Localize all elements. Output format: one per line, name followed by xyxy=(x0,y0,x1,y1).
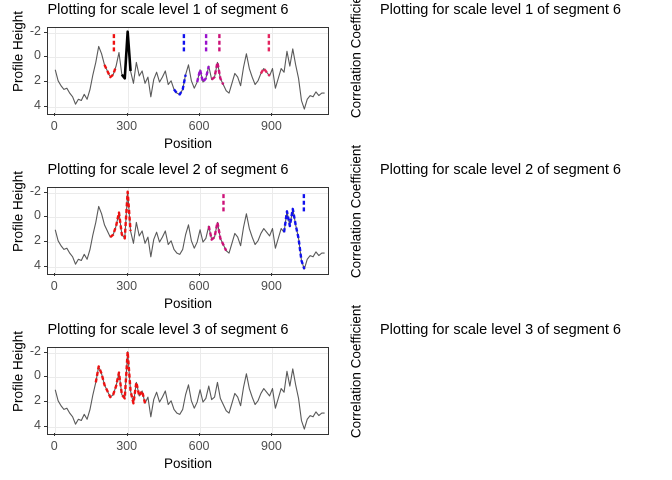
x-axis-label: Position xyxy=(47,136,329,151)
y-tick-label: -2 xyxy=(7,24,41,38)
x-tick-mark xyxy=(127,273,128,276)
x-tick-mark xyxy=(271,113,272,116)
y-tick-label: 2 xyxy=(7,233,41,247)
y-tick-mark xyxy=(44,401,47,402)
x-tick-mark xyxy=(199,113,200,116)
x-tick-label: 0 xyxy=(24,279,84,293)
y-tick-label: 4 xyxy=(7,258,41,272)
y-tick-label: -2 xyxy=(7,344,41,358)
x-tick-label: 300 xyxy=(97,119,157,133)
x-tick-mark xyxy=(127,113,128,116)
panel-title: Plotting for scale level 1 of segment 6 xyxy=(380,0,672,20)
y-axis-label: Correlation Coefficient xyxy=(280,364,432,384)
x-tick-label: 600 xyxy=(169,279,229,293)
panel-scale1-correlation: Plotting for scale level 1 of segment 6 … xyxy=(336,0,672,160)
y-tick-label: 2 xyxy=(7,393,41,407)
y-tick-mark xyxy=(44,192,47,193)
x-tick-mark xyxy=(271,433,272,436)
overlay-match-segment xyxy=(96,352,145,404)
x-tick-mark xyxy=(127,433,128,436)
x-tick-mark xyxy=(199,273,200,276)
x-tick-mark xyxy=(271,273,272,276)
y-tick-label: -2 xyxy=(7,184,41,198)
panel-title: Plotting for scale level 3 of segment 6 xyxy=(0,320,336,340)
overlay-match-segment xyxy=(110,192,130,239)
plot-area xyxy=(47,187,329,275)
figure-canvas: Plotting for scale level 1 of segment 6 … xyxy=(0,0,672,480)
y-tick-label: 2 xyxy=(7,73,41,87)
panel-title: Plotting for scale level 2 of segment 6 xyxy=(380,160,672,180)
y-tick-mark xyxy=(44,106,47,107)
y-tick-mark xyxy=(44,352,47,353)
plot-area xyxy=(47,27,329,115)
chart-trace-layer xyxy=(48,188,328,274)
x-tick-mark xyxy=(54,273,55,276)
chart-trace-layer xyxy=(48,28,328,114)
y-tick-mark xyxy=(44,376,47,377)
x-tick-label: 900 xyxy=(241,279,301,293)
x-axis-label: Position xyxy=(47,296,329,311)
y-tick-mark xyxy=(44,241,47,242)
y-tick-mark xyxy=(44,32,47,33)
y-axis-label: Correlation Coefficient xyxy=(280,44,432,64)
panel-title: Plotting for scale level 1 of segment 6 xyxy=(0,0,336,20)
x-tick-label: 0 xyxy=(24,439,84,453)
x-tick-label: 300 xyxy=(97,439,157,453)
x-tick-mark xyxy=(199,433,200,436)
x-tick-label: 600 xyxy=(169,439,229,453)
panel-title: Plotting for scale level 3 of segment 6 xyxy=(380,320,672,340)
panel-title: Plotting for scale level 2 of segment 6 xyxy=(0,160,336,180)
y-tick-label: 4 xyxy=(7,98,41,112)
x-tick-mark xyxy=(54,113,55,116)
overlay-match-segment xyxy=(261,69,270,76)
y-tick-mark xyxy=(44,216,47,217)
y-tick-label: 0 xyxy=(7,208,41,222)
overlay-match-segment xyxy=(104,65,116,77)
y-tick-label: 0 xyxy=(7,368,41,382)
x-tick-label: 0 xyxy=(24,119,84,133)
plot-area xyxy=(47,347,329,435)
y-tick-mark xyxy=(44,56,47,57)
overlay-match-segment xyxy=(122,32,131,79)
panel-scale1-profile: Plotting for scale level 1 of segment 6 … xyxy=(0,0,336,160)
x-tick-label: 900 xyxy=(241,439,301,453)
y-tick-mark xyxy=(44,426,47,427)
panel-scale2-correlation: Plotting for scale level 2 of segment 6 … xyxy=(336,160,672,320)
panel-scale2-profile: Plotting for scale level 2 of segment 6 … xyxy=(0,160,336,320)
y-tick-mark xyxy=(44,81,47,82)
chart-trace-layer xyxy=(48,348,328,434)
panel-scale3-correlation: Plotting for scale level 3 of segment 6 … xyxy=(336,320,672,480)
x-tick-mark xyxy=(54,433,55,436)
x-tick-label: 600 xyxy=(169,119,229,133)
y-axis-label: Correlation Coefficient xyxy=(280,204,432,224)
overlay-match-segment xyxy=(197,66,209,82)
x-tick-label: 900 xyxy=(241,119,301,133)
x-axis-label: Position xyxy=(47,456,329,471)
x-tick-label: 300 xyxy=(97,279,157,293)
panel-scale3-profile: Plotting for scale level 3 of segment 6 … xyxy=(0,320,336,480)
y-tick-label: 4 xyxy=(7,418,41,432)
y-tick-label: 0 xyxy=(7,48,41,62)
y-tick-mark xyxy=(44,266,47,267)
